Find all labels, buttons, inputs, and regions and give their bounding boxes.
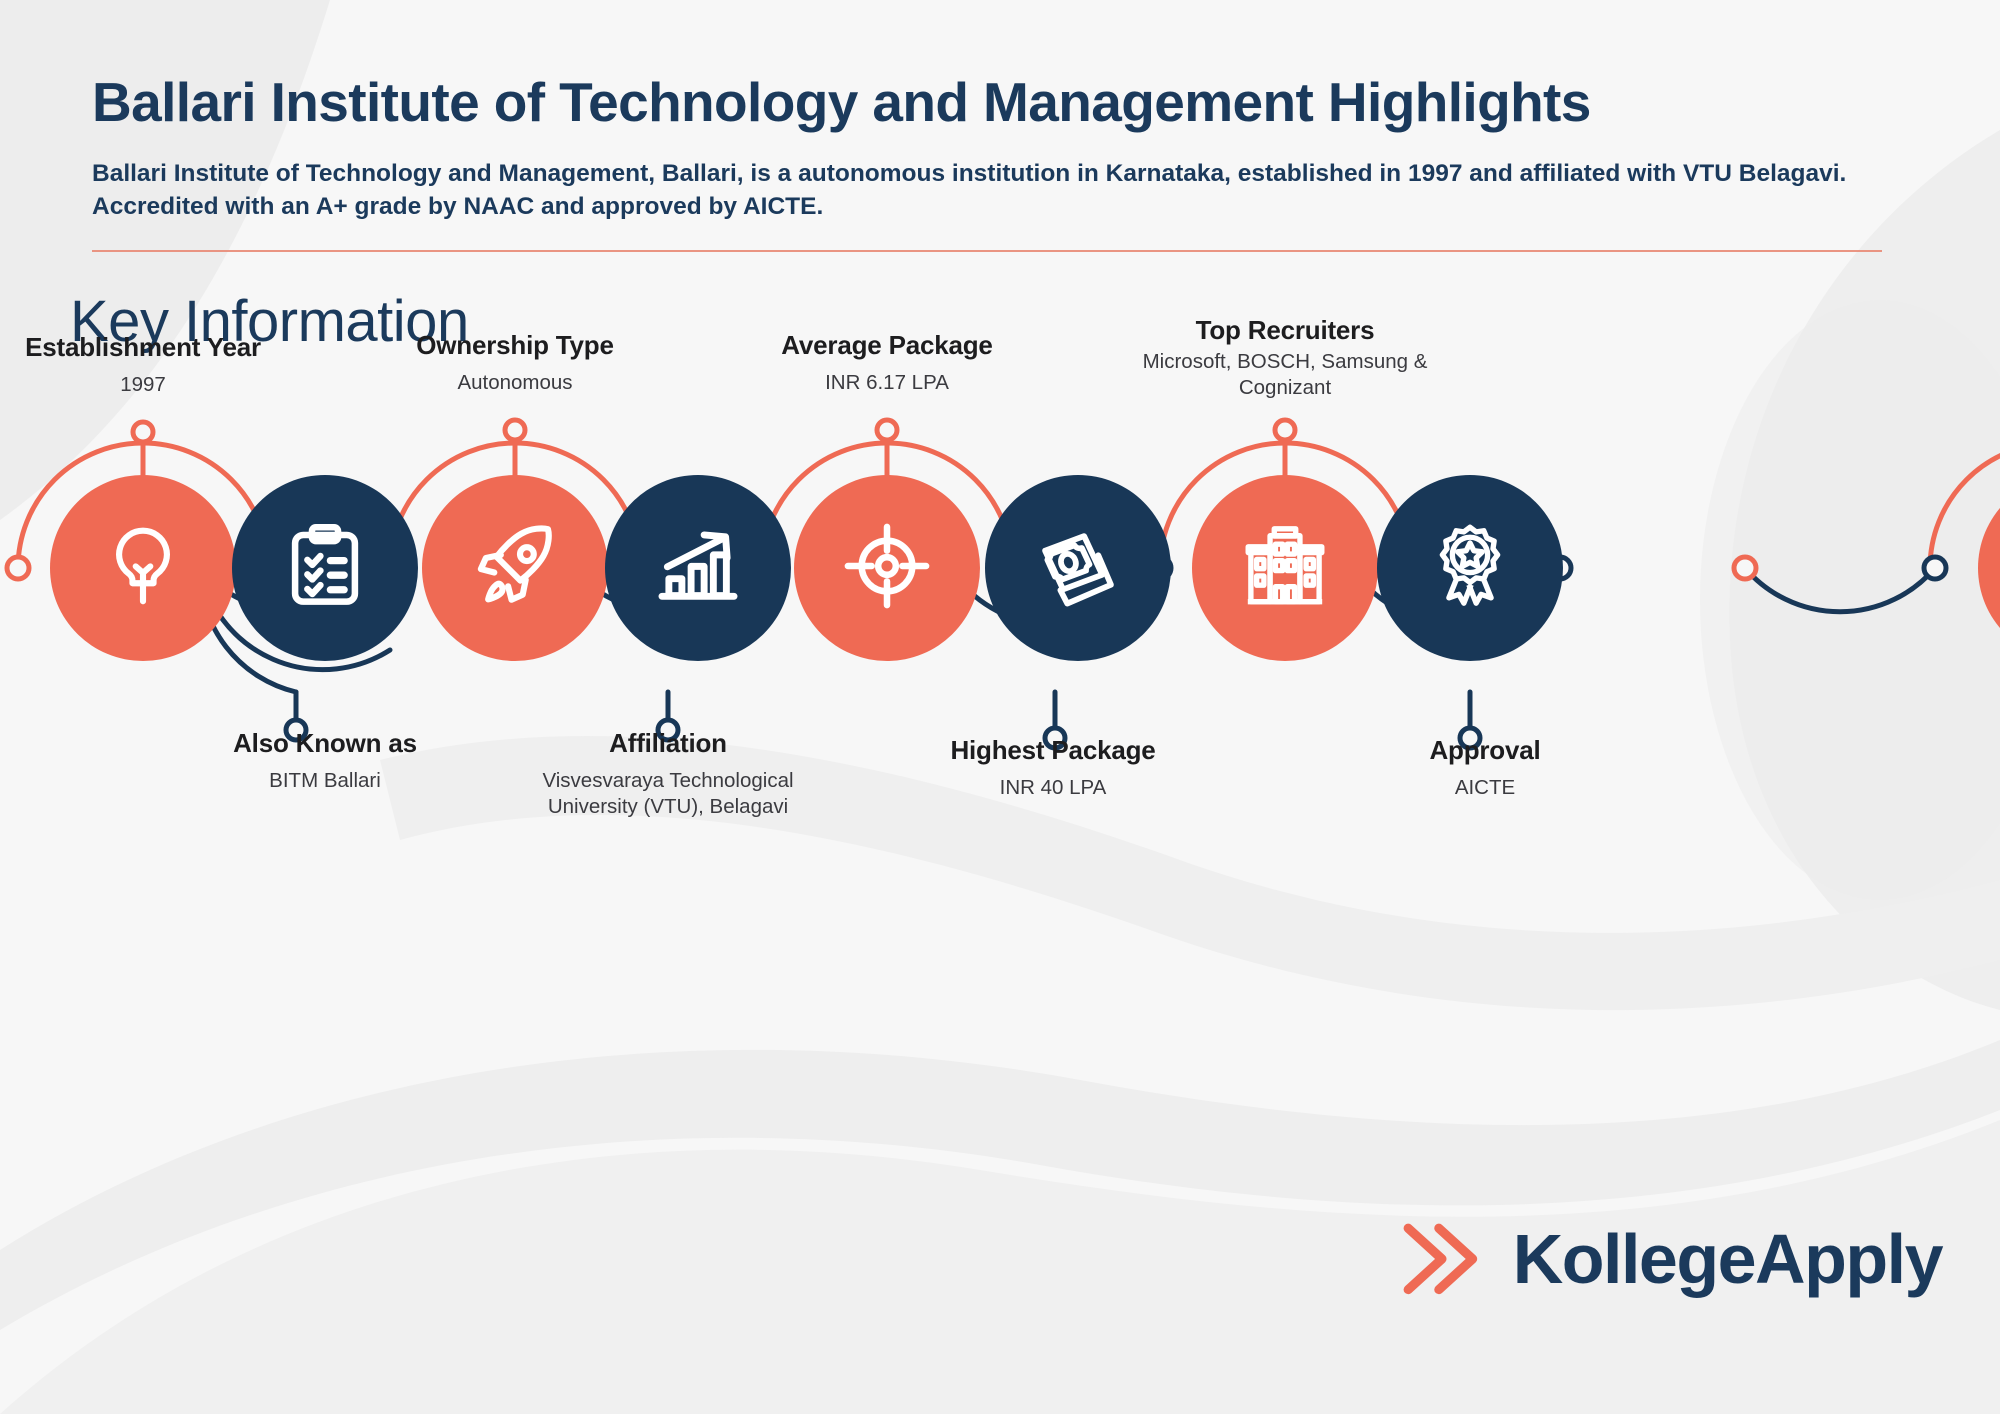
caption-label: Top Recruiters: [1120, 315, 1450, 346]
caption-value: INR 40 LPA: [888, 775, 1218, 801]
page-title: Ballari Institute of Technology and Mana…: [92, 72, 1918, 133]
caption-approval: Approval AICTE: [1320, 735, 1650, 801]
caption-label: Average Package: [722, 330, 1052, 361]
caption-label: Highest Package: [888, 735, 1218, 766]
target-crosshair-icon: [841, 520, 933, 617]
caption-label: Establishment Year: [0, 332, 308, 363]
brand-name: KollegeApply: [1513, 1224, 1942, 1294]
caption-label: Also Known as: [160, 728, 490, 759]
caption-value: Microsoft, BOSCH, Samsung & Cognizant: [1120, 349, 1450, 401]
caption-value: Visvesvaraya Technological University (V…: [518, 768, 818, 820]
caption-label: Ownership Type: [350, 330, 680, 361]
caption-average-package: Average Package INR 6.17 LPA: [722, 330, 1052, 396]
caption-label: Approval: [1320, 735, 1650, 766]
banknotes-icon: [1032, 520, 1124, 617]
node-top-recruiters[interactable]: [1192, 475, 1378, 661]
node-establishment-year[interactable]: [50, 475, 236, 661]
clipboard-checklist-icon: [279, 520, 371, 617]
caption-highest-package: Highest Package INR 40 LPA: [888, 735, 1218, 801]
lightbulb-icon: [97, 520, 189, 617]
caption-top-recruiters: Top Recruiters Microsoft, BOSCH, Samsung…: [1120, 315, 1450, 401]
caption-value: Autonomous: [350, 370, 680, 396]
node-ownership-type[interactable]: [422, 475, 608, 661]
kollegeapply-logo[interactable]: KollegeApply: [1399, 1216, 1942, 1302]
caption-affiliation: Affiliation Visvesvaraya Technological U…: [503, 728, 833, 820]
award-badge-icon: [1424, 520, 1516, 617]
office-building-icon: [1239, 520, 1331, 617]
node-also-known-as[interactable]: [232, 475, 418, 661]
growth-chart-icon: [652, 520, 744, 617]
node-affiliation[interactable]: [605, 475, 791, 661]
header-divider: [92, 250, 1882, 252]
caption-establishment-year: Establishment Year 1997: [0, 332, 308, 398]
caption-value: INR 6.17 LPA: [722, 370, 1052, 396]
caption-ownership-type: Ownership Type Autonomous: [350, 330, 680, 396]
key-information-timeline: Establishment Year 1997 Also Known as BI…: [0, 400, 2000, 1120]
node-highest-package[interactable]: [985, 475, 1171, 661]
caption-value: AICTE: [1320, 775, 1650, 801]
double-chevron-icon: [1399, 1216, 1491, 1302]
rocket-icon: [469, 520, 561, 617]
caption-value: BITM Ballari: [160, 768, 490, 794]
caption-label: Affiliation: [503, 728, 833, 759]
caption-value: 1997: [0, 372, 308, 398]
header: Ballari Institute of Technology and Mana…: [0, 0, 2000, 355]
node-approval[interactable]: [1377, 475, 1563, 661]
node-average-package[interactable]: [794, 475, 980, 661]
caption-also-known-as: Also Known as BITM Ballari: [160, 728, 490, 794]
page-subtitle: Ballari Institute of Technology and Mana…: [92, 157, 1902, 225]
